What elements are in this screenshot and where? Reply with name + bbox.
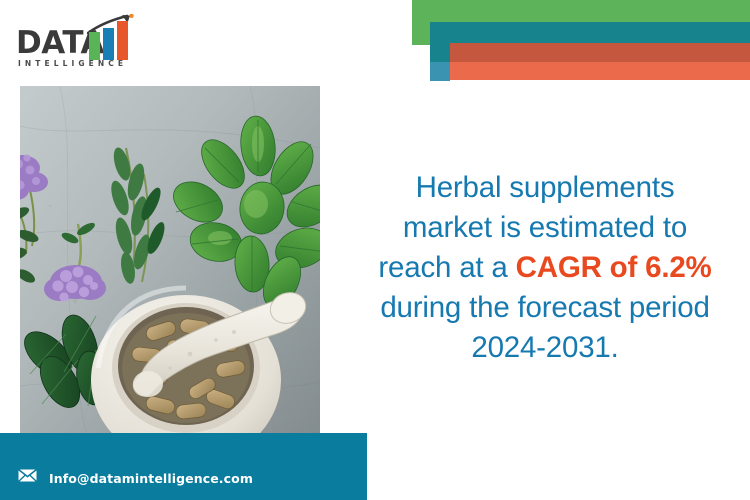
bar-chart-growth-icon <box>87 14 135 61</box>
decor-orange-bar-shadow <box>450 43 750 62</box>
infographic-canvas: DATA INTELLIGENCE <box>0 0 750 500</box>
headline-line-2: market is estimated to <box>403 211 687 244</box>
herbal-supplements-photo <box>20 86 320 454</box>
headline-line-1: Herbal supplements <box>416 171 675 204</box>
headline: Herbal supplements market is estimated t… <box>345 168 745 368</box>
headline-line-5: 2024-2031. <box>471 331 618 364</box>
cagr-highlight: CAGR of 6.2% <box>516 251 712 284</box>
brand-logo[interactable]: DATA INTELLIGENCE <box>16 14 136 72</box>
envelope-icon <box>18 469 37 487</box>
decor-teal-tab <box>430 62 450 81</box>
contact-email-row[interactable]: Info@datamintelligence.com <box>18 469 253 487</box>
hero-photo <box>20 86 320 454</box>
headline-line-3-prefix: reach at a <box>378 251 515 284</box>
headline-line-4: during the forecast period <box>380 291 709 324</box>
brand-tagline: INTELLIGENCE <box>18 59 127 68</box>
footer-email-text: Info@datamintelligence.com <box>49 471 253 486</box>
footer-bar: Info@datamintelligence.com <box>0 433 367 500</box>
